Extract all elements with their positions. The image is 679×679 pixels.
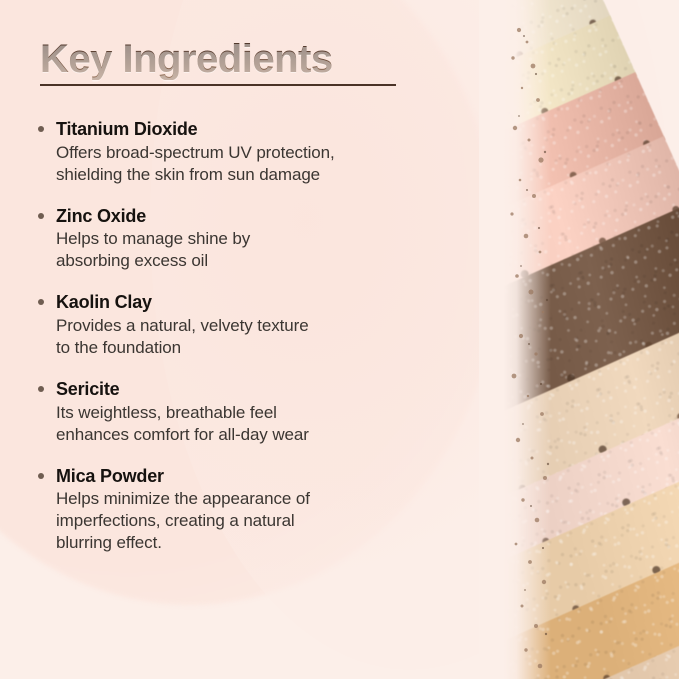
powder-bands-group	[479, 0, 679, 679]
ingredient-list: Titanium DioxideOffers broad-spectrum UV…	[36, 118, 446, 555]
ingredient-name: Zinc Oxide	[56, 205, 446, 228]
bullet-icon	[38, 473, 44, 479]
ingredient-description: Helps to manage shine by absorbing exces…	[56, 228, 446, 272]
bullet-icon	[38, 213, 44, 219]
list-item: SericiteIts weightless, breathable feel …	[36, 378, 446, 446]
title-underline	[40, 84, 396, 86]
bullet-icon	[38, 299, 44, 305]
ingredient-name: Sericite	[56, 378, 446, 401]
ingredient-name: Titanium Dioxide	[56, 118, 446, 141]
ingredient-name: Kaolin Clay	[56, 291, 446, 314]
bullet-icon	[38, 386, 44, 392]
powder-swatch-image	[479, 0, 679, 679]
list-item: Titanium DioxideOffers broad-spectrum UV…	[36, 118, 446, 186]
text-column: Key Ingredients Titanium DioxideOffers b…	[0, 0, 470, 679]
ingredient-description: Its weightless, breathable feel enhances…	[56, 402, 446, 446]
ingredient-description: Provides a natural, velvety texture to t…	[56, 315, 446, 359]
ingredient-description: Offers broad-spectrum UV protection, shi…	[56, 142, 446, 186]
page-title: Key Ingredients	[40, 38, 420, 80]
ingredients-infographic: Key Ingredients Titanium DioxideOffers b…	[0, 0, 679, 679]
ingredient-description: Helps minimize the appearance of imperfe…	[56, 488, 446, 554]
page-title-block: Key Ingredients	[40, 38, 420, 86]
list-item: Mica PowderHelps minimize the appearance…	[36, 465, 446, 555]
ingredient-name: Mica Powder	[56, 465, 446, 488]
bullet-icon	[38, 126, 44, 132]
list-item: Zinc OxideHelps to manage shine by absor…	[36, 205, 446, 273]
list-item: Kaolin ClayProvides a natural, velvety t…	[36, 291, 446, 359]
